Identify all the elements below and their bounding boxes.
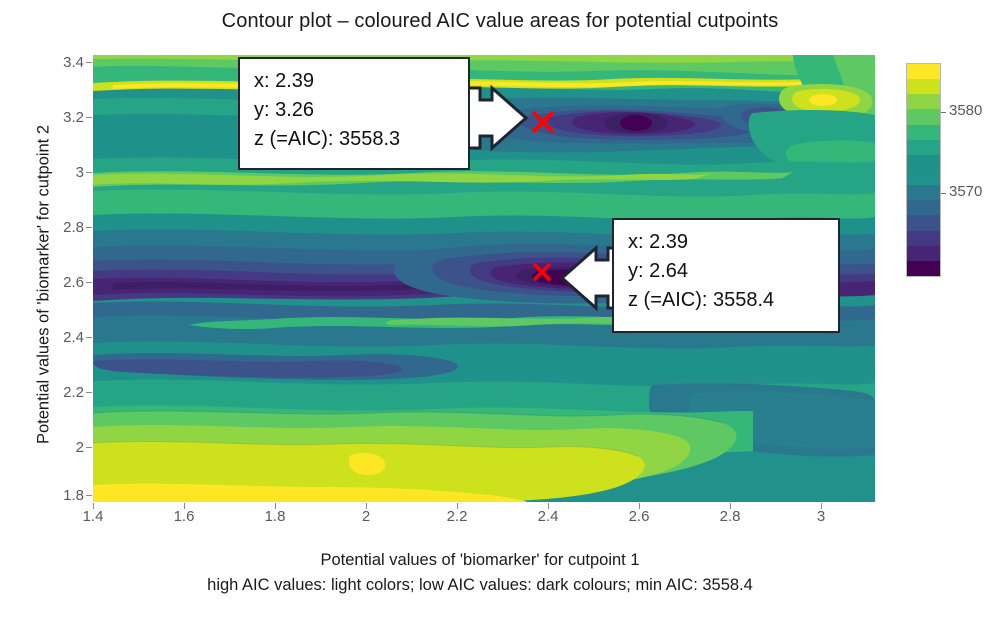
chart-title: Contour plot – coloured AIC value areas … — [0, 10, 1000, 33]
y-tick-label: 2 — [44, 439, 84, 456]
y-tick-label: 2.4 — [44, 329, 84, 346]
y-tick-mark — [86, 117, 92, 118]
colorbar-band — [907, 200, 940, 215]
x-tick-label: 1.4 — [68, 508, 118, 525]
colorbar-tick-mark — [941, 112, 946, 113]
x-tick-label: 1.8 — [250, 508, 300, 525]
x-tick-label: 2.4 — [523, 508, 573, 525]
annotation-minimum-2[interactable]: x: 2.39 y: 2.64 z (=AIC): 3558.4 — [612, 218, 840, 333]
x-axis-label: Potential values of 'biomarker' for cutp… — [0, 551, 960, 570]
colorbar-band — [907, 125, 940, 140]
y-tick-mark — [86, 337, 92, 338]
y-tick-mark — [86, 62, 92, 63]
x-tick-label: 2.6 — [614, 508, 664, 525]
y-tick-label: 2.2 — [44, 384, 84, 401]
annotation-2-z: z (=AIC): 3558.4 — [628, 286, 826, 315]
annotation-minimum-1[interactable]: x: 2.39 y: 3.26 z (=AIC): 3558.3 — [238, 57, 470, 170]
colorbar-band — [907, 215, 940, 230]
minimum-marker-1 — [528, 108, 558, 136]
callout-arrow-1 — [462, 86, 530, 150]
annotation-2-y: y: 2.64 — [628, 257, 826, 286]
minimum-marker-2 — [530, 261, 554, 283]
y-tick-mark — [86, 447, 92, 448]
contour-plot-figure: Contour plot – coloured AIC value areas … — [0, 0, 1000, 619]
annotation-1-x: x: 2.39 — [254, 67, 456, 96]
x-tick-label: 2.8 — [705, 508, 755, 525]
x-tick-label: 2.2 — [432, 508, 482, 525]
colorbar-band — [907, 261, 940, 276]
colorbar-band — [907, 64, 940, 79]
colorbar-band — [907, 185, 940, 200]
colorbar-band — [907, 170, 940, 185]
y-tick-label: 2.6 — [44, 274, 84, 291]
x-tick-label: 3 — [796, 508, 846, 525]
x-tick-label: 2 — [341, 508, 391, 525]
colorbar — [906, 63, 941, 277]
y-tick-mark — [86, 495, 92, 496]
y-tick-mark — [86, 227, 92, 228]
colorbar-band — [907, 94, 940, 109]
annotation-1-y: y: 3.26 — [254, 96, 456, 125]
colorbar-band — [907, 231, 940, 246]
y-tick-mark — [86, 282, 92, 283]
colorbar-band — [907, 246, 940, 261]
x-tick-label: 1.6 — [159, 508, 209, 525]
annotation-1-z: z (=AIC): 3558.3 — [254, 125, 456, 154]
colorbar-band — [907, 155, 940, 170]
y-tick-mark — [86, 172, 92, 173]
chart-subcaption: high AIC values: light colors; low AIC v… — [0, 576, 960, 595]
y-tick-label: 3.4 — [44, 54, 84, 71]
colorbar-band — [907, 140, 940, 155]
colorbar-band — [907, 109, 940, 124]
colorbar-tick-label: 3570 — [949, 183, 982, 200]
colorbar-band — [907, 79, 940, 94]
y-tick-label: 2.8 — [44, 219, 84, 236]
annotation-2-x: x: 2.39 — [628, 228, 826, 257]
colorbar-tick-label: 3580 — [949, 102, 982, 119]
y-tick-label: 3 — [44, 164, 84, 181]
y-tick-label: 1.8 — [44, 487, 84, 504]
y-tick-label: 3.2 — [44, 109, 84, 126]
y-tick-mark — [86, 392, 92, 393]
colorbar-tick-mark — [941, 193, 946, 194]
